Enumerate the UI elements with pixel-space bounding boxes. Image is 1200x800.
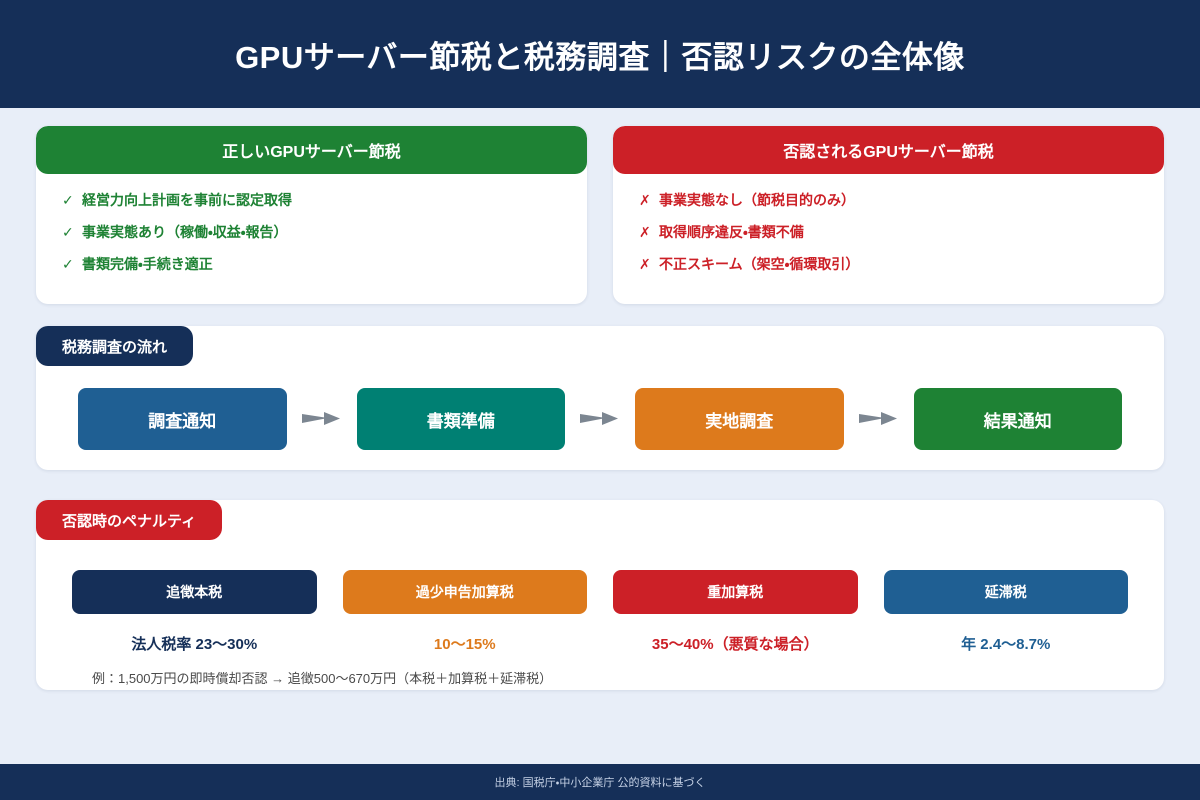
flow-step-3: 実地調査 bbox=[635, 388, 844, 450]
flow-steps-row: 調査通知 書類準備 bbox=[78, 388, 1122, 450]
check-icon: ✓ bbox=[62, 256, 73, 273]
list-item-label: 経営力向上計画を事前に認定取得 bbox=[82, 192, 292, 209]
page-footer: 出典: 国税庁・中小企業庁 公的資料に基づく bbox=[0, 764, 1200, 800]
flow-section-title: 税務調査の流れ bbox=[62, 336, 167, 357]
penalty-item-header: 延滞税 bbox=[884, 570, 1129, 614]
list-item: ✓ 経営力向上計画を事前に認定取得 bbox=[62, 192, 587, 209]
cross-icon: ✗ bbox=[639, 256, 650, 273]
penalty-item-header: 追徴本税 bbox=[72, 570, 317, 614]
flow-step-label: 実地調査 bbox=[705, 407, 773, 432]
cross-icon: ✗ bbox=[639, 224, 650, 241]
list-item: ✗ 事業実態なし（節税目的のみ） bbox=[639, 192, 1164, 209]
check-icon: ✓ bbox=[62, 224, 73, 241]
penalty-columns: 追徴本税 法人税率 23〜30% 過少申告加算税 10〜15% 重加算税 35〜… bbox=[72, 570, 1128, 654]
cross-icon: ✗ bbox=[639, 192, 650, 209]
source-note: 出典: 国税庁・中小企業庁 公的資料に基づく bbox=[495, 774, 706, 790]
list-item-label: 事業実態なし（節税目的のみ） bbox=[659, 192, 855, 209]
penalty-item-title: 過少申告加算税 bbox=[416, 582, 514, 602]
list-item-label: 事業実態あり（稼働・収益・報告） bbox=[82, 224, 288, 241]
arrow-right-icon bbox=[287, 410, 357, 428]
check-icon: ✓ bbox=[62, 192, 73, 209]
penalty-item-title: 延滞税 bbox=[985, 582, 1027, 602]
penalty-section-title: 否認時のペナルティ bbox=[62, 510, 196, 531]
penalty-item-value: 35〜40%（悪質な場合） bbox=[652, 633, 819, 654]
penalty-item-title: 重加算税 bbox=[707, 582, 763, 602]
penalty-item-header: 重加算税 bbox=[613, 570, 858, 614]
good-card-list: ✓ 経営力向上計画を事前に認定取得 ✓ 事業実態あり（稼働・収益・報告） ✓ 書… bbox=[36, 174, 587, 304]
arrow-right-icon bbox=[565, 410, 635, 428]
penalty-example-note: 例：1,500万円の即時償却否認 → 追徴500〜670万円（本税＋加算税＋延滞… bbox=[92, 668, 552, 687]
list-item: ✗ 不正スキーム（架空・循環取引） bbox=[639, 256, 1164, 273]
bad-card-list: ✗ 事業実態なし（節税目的のみ） ✗ 取得順序違反・書類不備 ✗ 不正スキーム（… bbox=[613, 174, 1164, 304]
good-card-title: 正しいGPUサーバー節税 bbox=[222, 138, 401, 162]
penalty-item-title: 追徴本税 bbox=[166, 582, 222, 602]
penalty-item-value: 法人税率 23〜30% bbox=[131, 633, 257, 654]
flow-section-badge: 税務調査の流れ bbox=[36, 326, 193, 366]
tax-audit-flow-section: 税務調査の流れ 調査通知 書類準備 bbox=[36, 326, 1164, 470]
page-title: GPUサーバー節税と税務調査｜否認リスクの全体像 bbox=[235, 32, 965, 77]
arrow-right-icon bbox=[844, 410, 914, 428]
penalty-item-value: 年 2.4〜8.7% bbox=[961, 633, 1050, 654]
penalty-item-1: 追徴本税 法人税率 23〜30% bbox=[72, 570, 317, 654]
content-area: 正しいGPUサーバー節税 ✓ 経営力向上計画を事前に認定取得 ✓ 事業実態あり（… bbox=[0, 108, 1200, 764]
list-item-label: 不正スキーム（架空・循環取引） bbox=[659, 256, 859, 273]
list-item: ✓ 書類完備・手続き適正 bbox=[62, 256, 587, 273]
penalty-item-value: 10〜15% bbox=[434, 633, 496, 654]
bad-card-title: 否認されるGPUサーバー節税 bbox=[783, 138, 994, 162]
page-header: GPUサーバー節税と税務調査｜否認リスクの全体像 bbox=[0, 0, 1200, 108]
list-item-label: 取得順序違反・書類不備 bbox=[659, 224, 804, 241]
penalty-item-header: 過少申告加算税 bbox=[343, 570, 588, 614]
flow-step-label: 結果通知 bbox=[984, 407, 1052, 432]
flow-step-label: 調査通知 bbox=[148, 407, 216, 432]
list-item-label: 書類完備・手続き適正 bbox=[82, 256, 213, 273]
penalty-item-2: 過少申告加算税 10〜15% bbox=[343, 570, 588, 654]
penalty-item-4: 延滞税 年 2.4〜8.7% bbox=[884, 570, 1129, 654]
flow-step-label: 書類準備 bbox=[427, 407, 495, 432]
good-card-header: 正しいGPUサーバー節税 bbox=[36, 126, 587, 174]
flow-step-2: 書類準備 bbox=[357, 388, 566, 450]
penalty-section: 否認時のペナルティ 追徴本税 法人税率 23〜30% 過少申告加算税 10〜15… bbox=[36, 500, 1164, 690]
good-practices-card: 正しいGPUサーバー節税 ✓ 経営力向上計画を事前に認定取得 ✓ 事業実態あり（… bbox=[36, 126, 587, 304]
comparison-row: 正しいGPUサーバー節税 ✓ 経営力向上計画を事前に認定取得 ✓ 事業実態あり（… bbox=[36, 126, 1164, 304]
penalty-item-3: 重加算税 35〜40%（悪質な場合） bbox=[613, 570, 858, 654]
penalty-section-badge: 否認時のペナルティ bbox=[36, 500, 222, 540]
list-item: ✓ 事業実態あり（稼働・収益・報告） bbox=[62, 224, 587, 241]
flow-step-4: 結果通知 bbox=[914, 388, 1123, 450]
flow-step-1: 調査通知 bbox=[78, 388, 287, 450]
denied-practices-card: 否認されるGPUサーバー節税 ✗ 事業実態なし（節税目的のみ） ✗ 取得順序違反… bbox=[613, 126, 1164, 304]
list-item: ✗ 取得順序違反・書類不備 bbox=[639, 224, 1164, 241]
infographic-page: GPUサーバー節税と税務調査｜否認リスクの全体像 正しいGPUサーバー節税 ✓ … bbox=[0, 0, 1200, 800]
bad-card-header: 否認されるGPUサーバー節税 bbox=[613, 126, 1164, 174]
